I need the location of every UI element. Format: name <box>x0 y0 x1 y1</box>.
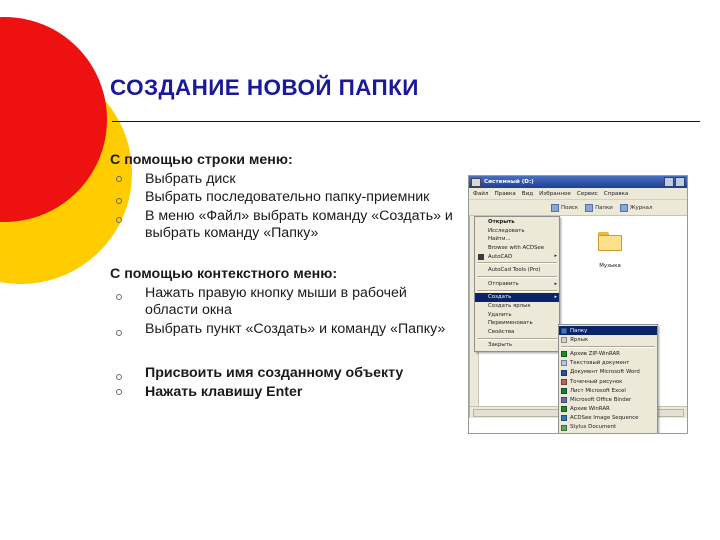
menu-item-favorites[interactable]: Избранное <box>539 191 571 197</box>
section-spacer <box>110 244 462 266</box>
shortcut-icon <box>561 337 567 343</box>
search-icon <box>551 204 559 212</box>
list-item-label: Нажать клавишу Enter <box>145 384 302 400</box>
list-item: Выбрать диск <box>110 171 462 189</box>
file-menu-item-new[interactable]: Создать ▸ <box>475 293 559 302</box>
folder-item-music[interactable]: Музыка <box>588 232 632 271</box>
list-item-label: Выбрать последовательно папку-приемник <box>145 189 429 205</box>
list-item: Нажать клавишу Enter <box>110 384 462 402</box>
submenu-arrow-icon: ▸ <box>554 254 557 259</box>
menu-label: AutoCad Tools (Pro) <box>488 267 540 273</box>
acdsee-icon <box>561 415 567 421</box>
menu-label: ACDSee Image Sequence <box>570 415 638 421</box>
list-item: Присвоить имя созданному объекту <box>110 365 462 383</box>
autocad-icon <box>478 254 484 260</box>
section-heading-context-menu: С помощью контекстного меню: <box>110 266 462 283</box>
new-submenu-item-shortcut[interactable]: Ярлык <box>559 335 657 344</box>
new-submenu-item-zip-winrar[interactable]: Архив ZIP-WinRAR <box>559 349 657 358</box>
new-submenu: Папку Ярлык Архив ZIP-WinRAR Текстовый д… <box>558 324 658 434</box>
menu-separator <box>477 338 557 340</box>
menu-label: Отправить <box>488 281 519 287</box>
menu-label: Лист Microsoft Excel <box>570 388 626 394</box>
folder-label: Музыка <box>598 263 622 269</box>
folder-icon <box>561 328 567 334</box>
maximize-button[interactable] <box>675 177 685 187</box>
file-menu-item-create-shortcut[interactable]: Создать ярлык <box>475 302 559 311</box>
file-menu-item-browse-acdsee[interactable]: Browse with ACDSee <box>475 244 559 253</box>
toolbar-button-search[interactable]: Поиск <box>551 204 578 212</box>
menu-label: Browse with ACDSee <box>488 245 544 251</box>
list-item-label: Выбрать пункт «Создать» и команду «Папку… <box>145 321 445 337</box>
menu-separator <box>477 290 557 292</box>
new-submenu-item-bitmap[interactable]: Точечный рисунок <box>559 377 657 386</box>
new-submenu-item-office-binder[interactable]: Microsoft Office Binder <box>559 395 657 404</box>
file-menu-item-explore[interactable]: Исследовать <box>475 227 559 236</box>
new-submenu-item-acdsee-sequence[interactable]: ACDSee Image Sequence <box>559 414 657 423</box>
window-titlebar: Системный (D:) <box>469 176 687 188</box>
section-heading-menu-bar: С помощью строки меню: <box>110 152 462 169</box>
file-menu-item-autocad-tools[interactable]: AutoCad Tools (Pro) <box>475 266 559 275</box>
file-menu-item-properties[interactable]: Свойства <box>475 328 559 337</box>
menu-label: Текстовый документ <box>570 360 629 366</box>
menu-item-file[interactable]: Файл <box>473 191 488 197</box>
file-menu-item-delete[interactable]: Удалить <box>475 310 559 319</box>
new-submenu-item-stylus-document[interactable]: Stylus Document <box>559 423 657 432</box>
list-item-label: Выбрать диск <box>145 171 236 187</box>
menu-separator <box>561 346 655 348</box>
folders-icon <box>585 204 593 212</box>
winrar-zip-icon <box>561 351 567 357</box>
list-item: Выбрать последовательно папку-приемник <box>110 189 462 207</box>
stylus-icon <box>561 425 567 431</box>
menu-label: Stylus Document <box>570 424 616 430</box>
file-menu-item-autocad[interactable]: AutoCAD ▸ <box>475 252 559 261</box>
menu-label: Переименовать <box>488 320 533 326</box>
bullet-circle-icon <box>116 217 122 223</box>
menu-label: Ярлык <box>570 337 588 343</box>
bullet-list-context-menu: Нажать правую кнопку мыши в рабочей обла… <box>110 285 462 339</box>
section-spacer <box>110 339 462 365</box>
menu-label: Удалить <box>488 312 512 318</box>
bullet-circle-icon <box>116 294 122 300</box>
slide-canvas: СОЗДАНИЕ НОВОЙ ПАПКИ С помощью строки ме… <box>0 0 720 540</box>
bullet-list-final-steps: Присвоить имя созданному объекту Нажать … <box>110 365 462 401</box>
menu-item-tools[interactable]: Сервис <box>577 191 598 197</box>
menu-label: Создать <box>488 294 511 300</box>
menu-label: Microsoft Office Binder <box>570 397 631 403</box>
new-submenu-item-word-document[interactable]: Документ Microsoft Word <box>559 368 657 377</box>
history-icon <box>620 204 628 212</box>
menu-item-edit[interactable]: Правка <box>494 191 515 197</box>
office-binder-icon <box>561 397 567 403</box>
menu-label: Открыть <box>488 219 515 225</box>
list-item-label: Присвоить имя созданному объекту <box>145 365 403 381</box>
new-submenu-item-excel-sheet[interactable]: Лист Microsoft Excel <box>559 386 657 395</box>
menu-label: Создать ярлык <box>488 303 531 309</box>
list-item: Нажать правую кнопку мыши в рабочей обла… <box>110 285 462 320</box>
toolbar-label: Папки <box>595 205 613 211</box>
file-dropdown-menu: Открыть Исследовать Найти... Browse with… <box>474 216 560 352</box>
window-client-area: Архив Музыка Открыть Исследовать Найти.. <box>469 216 687 418</box>
list-item-label: В меню «Файл» выбрать команду «Создать» … <box>145 208 453 242</box>
menu-label: Свойства <box>488 329 514 335</box>
toolbar-label: Поиск <box>561 205 578 211</box>
new-submenu-item-folder[interactable]: Папку <box>559 326 657 335</box>
menu-label: Архив ZIP-WinRAR <box>570 351 620 357</box>
folder-icon-yellow <box>598 232 622 251</box>
menu-label: Архив WinRAR <box>570 406 610 412</box>
list-item-label: Нажать правую кнопку мыши в рабочей обла… <box>145 285 407 319</box>
content-column: С помощью строки меню: Выбрать диск Выбр… <box>110 152 462 402</box>
menu-separator <box>477 262 557 264</box>
menu-label: Найти... <box>488 236 511 242</box>
bullet-circle-icon <box>116 374 122 380</box>
menu-label: AutoCAD <box>488 254 512 260</box>
text-document-icon <box>561 360 567 366</box>
bitmap-icon <box>561 379 567 385</box>
new-submenu-item-text-document[interactable]: Текстовый документ <box>559 359 657 368</box>
menu-label: Точечный рисунок <box>570 379 622 385</box>
bullet-circle-icon <box>116 389 122 395</box>
menu-item-help[interactable]: Справка <box>604 191 629 197</box>
window-control-buttons <box>664 177 685 187</box>
bullet-circle-icon <box>116 198 122 204</box>
file-menu-item-find[interactable]: Найти... <box>475 235 559 244</box>
bullet-circle-icon <box>116 330 122 336</box>
menu-label: Папку <box>570 328 587 334</box>
file-menu-item-open[interactable]: Открыть <box>475 218 559 227</box>
window-title: Системный (D:) <box>484 179 534 185</box>
file-menu-item-send-to[interactable]: Отправить ▸ <box>475 280 559 289</box>
menu-separator <box>477 276 557 278</box>
bullet-list-menu-bar: Выбрать диск Выбрать последовательно пап… <box>110 171 462 243</box>
list-item: Выбрать пункт «Создать» и команду «Папку… <box>110 321 462 339</box>
toolbar-label: Журнал <box>630 205 653 211</box>
title-divider-rule <box>112 121 700 122</box>
title-block: СОЗДАНИЕ НОВОЙ ПАПКИ <box>110 76 705 100</box>
drive-icon <box>471 178 481 187</box>
page-title: СОЗДАНИЕ НОВОЙ ПАПКИ <box>110 76 705 100</box>
menu-label: Документ Microsoft Word <box>570 369 640 375</box>
file-menu-item-close[interactable]: Закрыть <box>475 341 559 350</box>
word-document-icon <box>561 370 567 376</box>
list-item: В меню «Файл» выбрать команду «Создать» … <box>110 208 462 243</box>
menu-label: Закрыть <box>488 342 512 348</box>
bullet-circle-icon <box>116 176 122 182</box>
excel-icon <box>561 388 567 394</box>
menu-label: Исследовать <box>488 228 525 234</box>
window-toolbar: Поиск Папки Журнал <box>469 200 687 216</box>
explorer-screenshot-image: Системный (D:) Файл Правка Вид Избранное… <box>468 175 688 434</box>
folder-body-shape <box>598 235 622 251</box>
toolbar-button-history[interactable]: Журнал <box>620 204 653 212</box>
toolbar-button-folders[interactable]: Папки <box>585 204 613 212</box>
file-menu-item-rename[interactable]: Переименовать <box>475 319 559 328</box>
window-menubar: Файл Правка Вид Избранное Сервис Справка <box>469 188 687 200</box>
submenu-arrow-icon: ▸ <box>554 282 557 287</box>
submenu-arrow-icon: ▸ <box>554 295 557 300</box>
menu-item-view[interactable]: Вид <box>522 191 533 197</box>
winrar-icon <box>561 406 567 412</box>
minimize-button[interactable] <box>664 177 674 187</box>
new-submenu-item-winrar-archive[interactable]: Архив WinRAR <box>559 405 657 414</box>
